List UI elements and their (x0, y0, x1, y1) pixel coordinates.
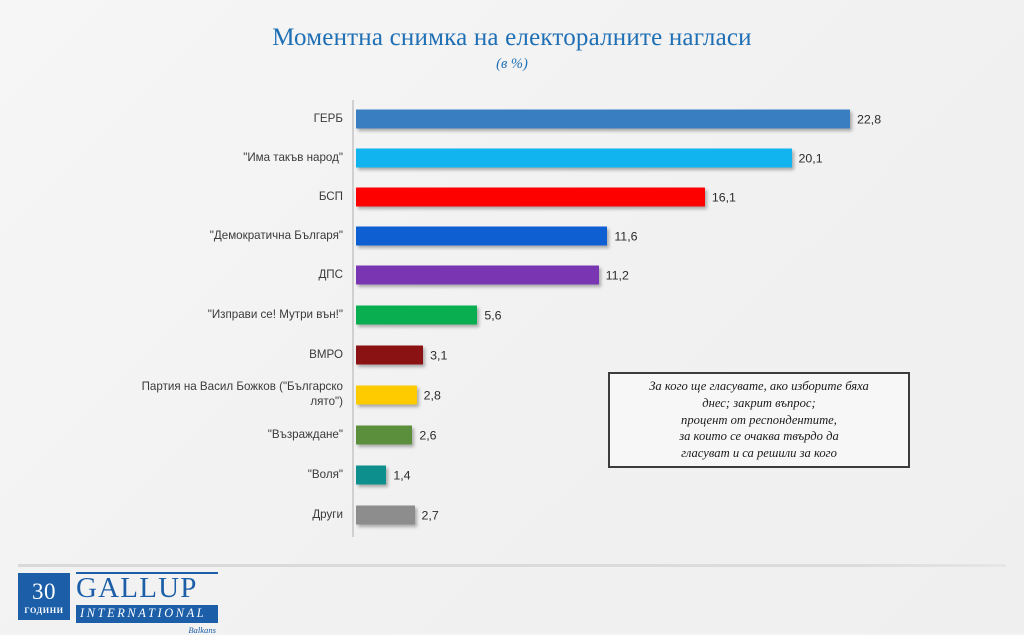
bar-row: БСП 16,1 (0, 178, 1024, 216)
bar-value-label: 1,4 (393, 468, 410, 482)
bar-category-label: ГЕРБ (60, 112, 343, 127)
anniversary-word: ГОДИНИ (24, 606, 63, 615)
bar-row: ВМРО 3,1 (0, 336, 1024, 374)
anniversary-badge: 30 ГОДИНИ (18, 573, 70, 620)
bar-row: "Демократична Българя" 11,6 (0, 217, 1024, 255)
bar-value[interactable] (356, 506, 415, 525)
logo-region: Balkans (188, 625, 216, 635)
bar-value-label: 2,6 (419, 428, 436, 442)
bar-category-label: ДПС (60, 268, 343, 283)
bar-category-label: "Демократична Българя" (60, 229, 343, 244)
bar-group: 2,7 (356, 506, 439, 525)
page-title: Моментна снимка на електоралните нагласи (0, 24, 1024, 52)
page-subtitle: (в %) (0, 56, 1024, 73)
bar-value-label: 2,8 (424, 388, 441, 402)
bar-group: 16,1 (356, 188, 736, 207)
bar-category-label: БСП (60, 190, 343, 205)
bar-category-label: Други (60, 508, 343, 523)
bar-value[interactable] (356, 227, 607, 246)
bar-value[interactable] (356, 386, 417, 405)
bar-group: 22,8 (356, 110, 881, 129)
bar-value-label: 11,6 (614, 229, 637, 243)
bar-group: 2,6 (356, 426, 437, 445)
bar-value-label: 3,1 (430, 348, 447, 362)
bar-value[interactable] (356, 426, 412, 445)
logo-brand: GALLUP (76, 575, 218, 603)
bar-chart-plot-area: ГЕРБ 22,8 "Има такъв народ" 20,1 БСП 16,… (0, 96, 1024, 536)
bar-row: "Изправи се! Мутри вън!" 5,6 (0, 296, 1024, 334)
footer-divider (18, 564, 1006, 567)
logo-division: INTERNATIONAL (76, 605, 218, 623)
bar-value-label: 2,7 (422, 508, 439, 522)
title-block: Моментна снимка на електоралните нагласи… (0, 24, 1024, 73)
bar-group: 11,2 (356, 266, 629, 285)
bar-group: 5,6 (356, 306, 502, 325)
bar-value-label: 11,2 (606, 268, 629, 282)
bar-group: 1,4 (356, 466, 411, 485)
bar-category-label: ВМРО (60, 348, 343, 363)
bar-value[interactable] (356, 266, 599, 285)
bar-value-label: 16,1 (712, 190, 736, 204)
bar-category-label: "Има такъв народ" (60, 151, 343, 166)
bar-value[interactable] (356, 306, 477, 325)
bar-row: Други 2,7 (0, 496, 1024, 534)
bar-group: 20,1 (356, 149, 823, 168)
question-annotation-text: За кого ще гласувате, ако изборите бяха … (641, 378, 877, 462)
bar-value[interactable] (356, 110, 850, 129)
bar-group: 11,6 (356, 227, 638, 246)
bar-value-label: 5,6 (484, 308, 501, 322)
gallup-logo: 30 ГОДИНИ GALLUP INTERNATIONAL Balkans (18, 573, 218, 625)
bar-value[interactable] (356, 346, 423, 365)
bar-group: 3,1 (356, 346, 447, 365)
bar-value[interactable] (356, 188, 705, 207)
bar-row: ГЕРБ 22,8 (0, 100, 1024, 138)
slide-canvas: Моментна снимка на електоралните нагласи… (0, 0, 1024, 633)
bar-value[interactable] (356, 466, 386, 485)
bar-row: ДПС 11,2 (0, 256, 1024, 294)
bar-row: "Има такъв народ" 20,1 (0, 139, 1024, 177)
bar-category-label: "Изправи се! Мутри вън!" (60, 308, 343, 323)
bar-value[interactable] (356, 149, 792, 168)
bar-category-label: "Възраждане" (60, 428, 343, 443)
bar-category-label: Партия на Васил Божков ("Българско лято"… (60, 380, 343, 410)
bar-value-label: 20,1 (799, 151, 823, 165)
bar-category-label: "Воля" (60, 468, 343, 483)
bar-value-label: 22,8 (857, 112, 881, 126)
question-annotation-box: За кого ще гласувате, ако изборите бяха … (608, 372, 910, 468)
logo-wordmark: GALLUP INTERNATIONAL Balkans (76, 572, 218, 635)
anniversary-number: 30 (32, 580, 56, 603)
bar-group: 2,8 (356, 386, 441, 405)
